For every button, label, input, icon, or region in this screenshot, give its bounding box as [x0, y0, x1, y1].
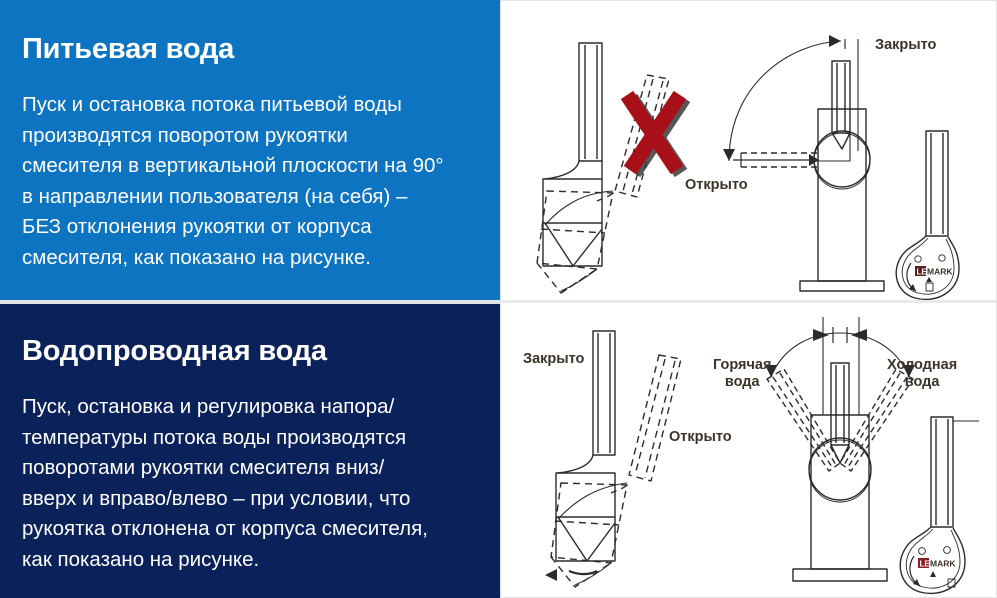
tap-water-body: Пуск, остановка и регулировка напора/ те… — [22, 392, 474, 575]
label-cold-water-line2: вода — [905, 374, 940, 390]
drinking-water-body: Пуск и остановка потока питьевой воды пр… — [22, 90, 474, 273]
body-line: в направлении пользователя (на себя) – — [22, 182, 474, 213]
svg-text:LE: LE — [917, 267, 928, 276]
label-hot-water-line2: вода — [725, 374, 760, 390]
body-line: БЕЗ отклонения рукоятки от корпуса — [22, 212, 474, 243]
drinking-water-title: Питьевая вода — [22, 34, 474, 64]
panel-row-separator — [0, 300, 500, 304]
label-open-top: Открыто — [685, 177, 748, 194]
lemark-brand-badge: LE MARK — [915, 266, 953, 276]
tap-water-title: Водопроводная вода — [22, 336, 474, 366]
body-line: поворотами рукоятки смесителя вниз/ — [22, 453, 474, 484]
label-cold-water: Холодная вода — [887, 357, 957, 391]
side-view-faucet-tilt — [545, 331, 681, 587]
drinking-water-text-panel: Питьевая вода Пуск и остановка потока пи… — [0, 0, 500, 302]
svg-text:MARK: MARK — [927, 266, 953, 276]
lemark-brand-badge-bottom: LE MARK — [918, 558, 956, 568]
label-closed-bottom: Закрыто — [523, 351, 584, 368]
svg-text:LE: LE — [920, 559, 931, 568]
tap-water-diagram-panel: LE MARK Закрыто Открыто Горячая вода Хол… — [500, 302, 997, 598]
drinking-water-diagram-panel: LE MARK Закрыто Открыто — [500, 0, 997, 302]
panel-grid: Питьевая вода Пуск и остановка потока пи… — [0, 0, 997, 598]
body-line: как показано на рисунке. — [22, 545, 474, 576]
label-closed-top: Закрыто — [875, 37, 936, 54]
side-view-faucet — [537, 43, 669, 293]
body-line: рукоятка отклонена от корпуса смесителя, — [22, 514, 474, 545]
body-line: производятся поворотом рукоятки — [22, 121, 474, 152]
label-hot-water: Горячая вода — [713, 357, 771, 391]
body-line: вверх и вправо/влево – при условии, что — [22, 484, 474, 515]
label-cold-water-line1: Холодная — [887, 357, 957, 373]
tap-water-text-panel: Водопроводная вода Пуск, остановка и рег… — [0, 302, 500, 598]
body-line: Пуск и остановка потока питьевой воды — [22, 90, 474, 121]
svg-text:MARK: MARK — [930, 558, 956, 568]
body-line: смесителя, как показано на рисунке. — [22, 243, 474, 274]
tap-water-drawing: LE MARK — [501, 303, 997, 598]
body-line: Пуск, остановка и регулировка напора/ — [22, 392, 474, 423]
label-open-bottom: Открыто — [669, 429, 732, 446]
front-view-faucet — [723, 35, 884, 291]
panel-row-separator-right — [500, 300, 997, 303]
body-line: температуры потока воды производятся — [22, 423, 474, 454]
body-line: смесителя в вертикальной плоскости на 90… — [22, 151, 474, 182]
instruction-sheet: Питьевая вода Пуск и остановка потока пи… — [0, 0, 997, 598]
label-hot-water-line1: Горячая — [713, 357, 771, 373]
